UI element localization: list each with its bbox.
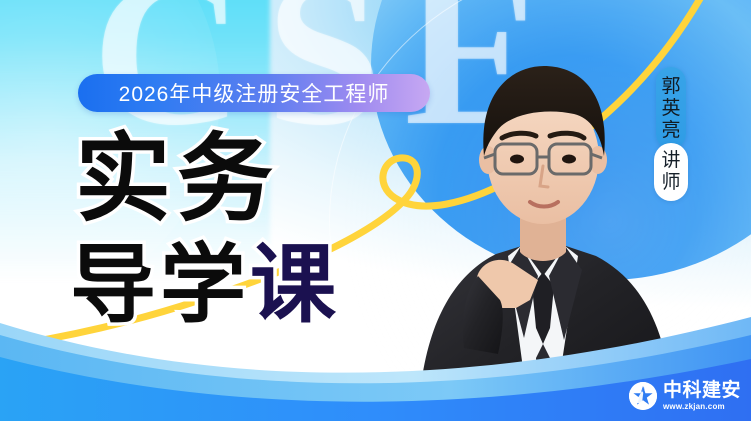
instructor-name-char-2: 英 <box>661 98 680 120</box>
title-line-1: 实务 <box>75 132 279 228</box>
instructor-role-char-1: 讲 <box>661 150 680 172</box>
instructor-role-badge: 讲 师 <box>654 143 688 201</box>
course-tag-pill: 2026年中级注册安全工程师 <box>78 74 430 112</box>
logo-url: www.zkjan.com <box>663 403 741 411</box>
instructor-role-char-2: 师 <box>661 172 680 194</box>
course-promo-banner: CSE <box>0 0 751 421</box>
instructor-name-char-3: 亮 <box>661 120 680 142</box>
logo-text-block: 中科建安 www.zkjan.com <box>663 381 741 411</box>
instructor-name-badge: 郭 英 亮 <box>656 67 686 149</box>
course-tag-text: 2026年中级注册安全工程师 <box>119 78 390 108</box>
logo-star-icon <box>629 382 657 410</box>
instructor-name-char-1: 郭 <box>661 76 680 98</box>
logo-name: 中科建安 <box>663 381 741 400</box>
brand-logo: 中科建安 www.zkjan.com <box>629 381 741 411</box>
